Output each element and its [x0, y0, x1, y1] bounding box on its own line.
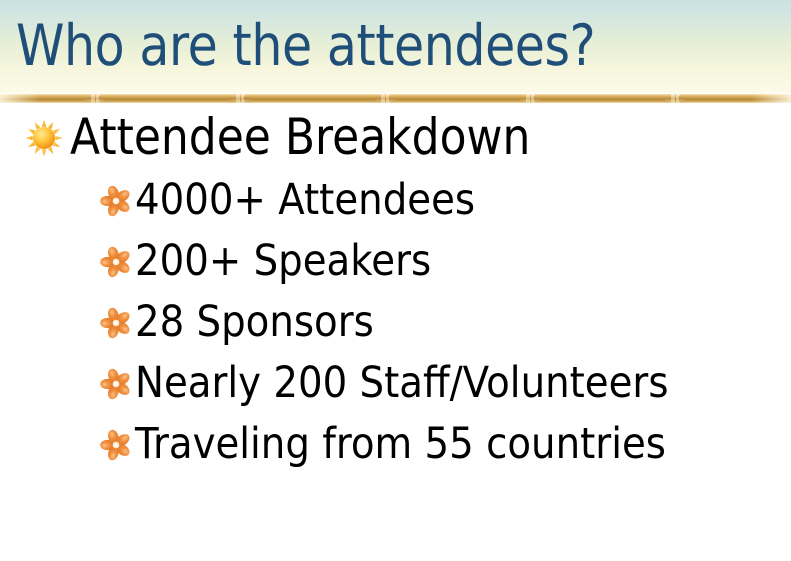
bullet-item-level-1: Attendee Breakdown	[0, 105, 791, 169]
bullet-label: Nearly 200 Staff/Volunteers	[135, 358, 668, 408]
ornament-wing-right	[389, 95, 398, 102]
bullet-label: 28 Sponsors	[135, 297, 374, 347]
ornament-wing-right	[534, 95, 543, 102]
bullet-label: Traveling from 55 countries	[135, 419, 666, 469]
bullet-item-level-2: Nearly 200 Staff/Volunteers	[0, 352, 791, 413]
ornament-wing-left	[517, 95, 526, 102]
bullet-label: 4000+ Attendees	[135, 175, 475, 225]
ornament-wing-left	[662, 95, 671, 102]
slide-title: Who are the attendees?	[16, 6, 678, 86]
flower-icon	[99, 367, 133, 401]
ornament-wing-left	[227, 95, 236, 102]
bullet-label: 200+ Speakers	[135, 236, 431, 286]
presentation-slide: Who are the attendees? Attendee Breakdow…	[0, 0, 791, 561]
bullet-item-level-2: Traveling from 55 countries	[0, 413, 791, 474]
sun-icon	[24, 118, 64, 158]
bullet-item-level-2: 200+ Speakers	[0, 230, 791, 291]
divider-ornament	[227, 92, 253, 105]
divider-ornament	[372, 92, 398, 105]
flower-icon	[99, 428, 133, 462]
ornament-dot	[671, 94, 675, 103]
bullet-item-level-2: 4000+ Attendees	[0, 169, 791, 230]
flower-icon	[99, 245, 133, 279]
bullet-label: Attendee Breakdown	[70, 109, 530, 165]
flower-icon	[99, 306, 133, 340]
slide-body: Attendee Breakdown4000+ Attendees200+ Sp…	[0, 105, 791, 474]
ornament-dot	[381, 94, 385, 103]
ornament-dot	[91, 94, 95, 103]
ornament-wing-right	[679, 95, 688, 102]
ornament-dot	[236, 94, 240, 103]
divider	[0, 92, 791, 105]
ornament-wing-left	[372, 95, 381, 102]
flower-icon	[99, 184, 133, 218]
ornament-dot	[526, 94, 530, 103]
ornament-wing-left	[82, 95, 91, 102]
divider-ornament	[517, 92, 543, 105]
ornament-wing-right	[99, 95, 108, 102]
slide-header-band: Who are the attendees?	[0, 0, 791, 93]
divider-ornament	[662, 92, 688, 105]
ornament-wing-right	[244, 95, 253, 102]
bullet-item-level-2: 28 Sponsors	[0, 291, 791, 352]
divider-ornament	[82, 92, 108, 105]
